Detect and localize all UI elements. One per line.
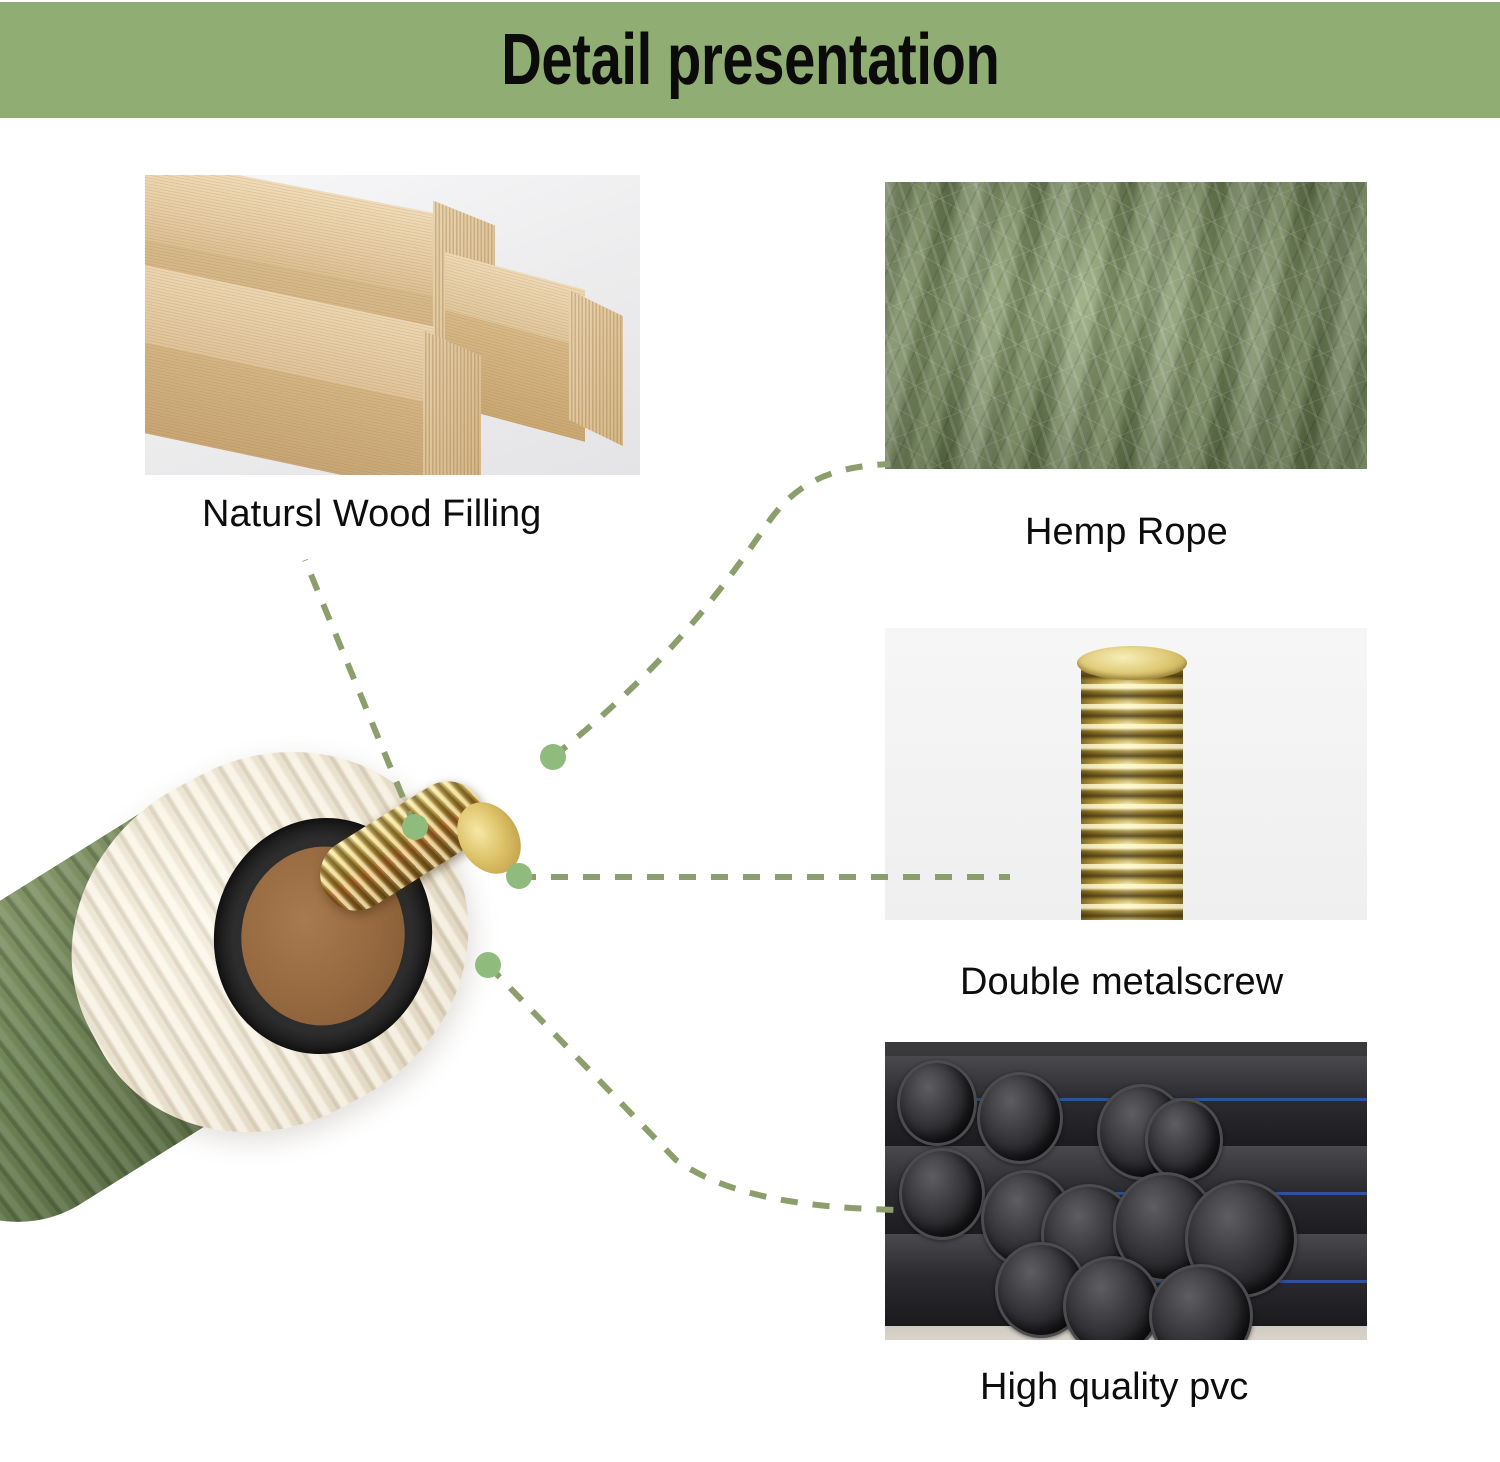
pvc-pipe-opening: [977, 1072, 1063, 1164]
wood-end-grain: [569, 290, 623, 446]
hemp-rope-photo: [885, 182, 1367, 469]
pvc-photo: [885, 1042, 1367, 1340]
product-photo: [0, 690, 700, 1462]
hemp-rope-caption: Hemp Rope: [1025, 513, 1228, 551]
screw-photo: [885, 628, 1367, 920]
screw-shaft: [1081, 664, 1183, 920]
screw-threads: [1081, 664, 1183, 920]
pvc-pipe-opening: [1145, 1098, 1223, 1182]
header-band: Detail presentation: [0, 2, 1500, 118]
wood-end-grain: [423, 330, 481, 475]
anchor-dot-screw[interactable]: [506, 863, 532, 889]
wood-beam-mid-end: [423, 330, 481, 475]
wood-caption: Natursl Wood Filling: [202, 495, 541, 533]
screw-caption: Double metalscrew: [960, 963, 1283, 1001]
wood-photo: [145, 175, 640, 475]
page-title: Detail presentation: [501, 24, 999, 96]
detail-presentation-page: Detail presentation Natursl Wood Filling…: [0, 0, 1500, 1462]
wood-beam-right-end: [569, 290, 623, 446]
anchor-dot-hemp-rope[interactable]: [540, 744, 566, 770]
pvc-pipe-opening: [899, 1148, 985, 1240]
rope-shading: [885, 182, 1367, 469]
anchor-dot-pvc[interactable]: [475, 952, 501, 978]
screw-head-top: [1077, 646, 1187, 680]
pvc-pipe-opening: [897, 1060, 977, 1146]
pvc-caption: High quality pvc: [980, 1368, 1248, 1406]
anchor-dot-wood[interactable]: [402, 814, 428, 840]
